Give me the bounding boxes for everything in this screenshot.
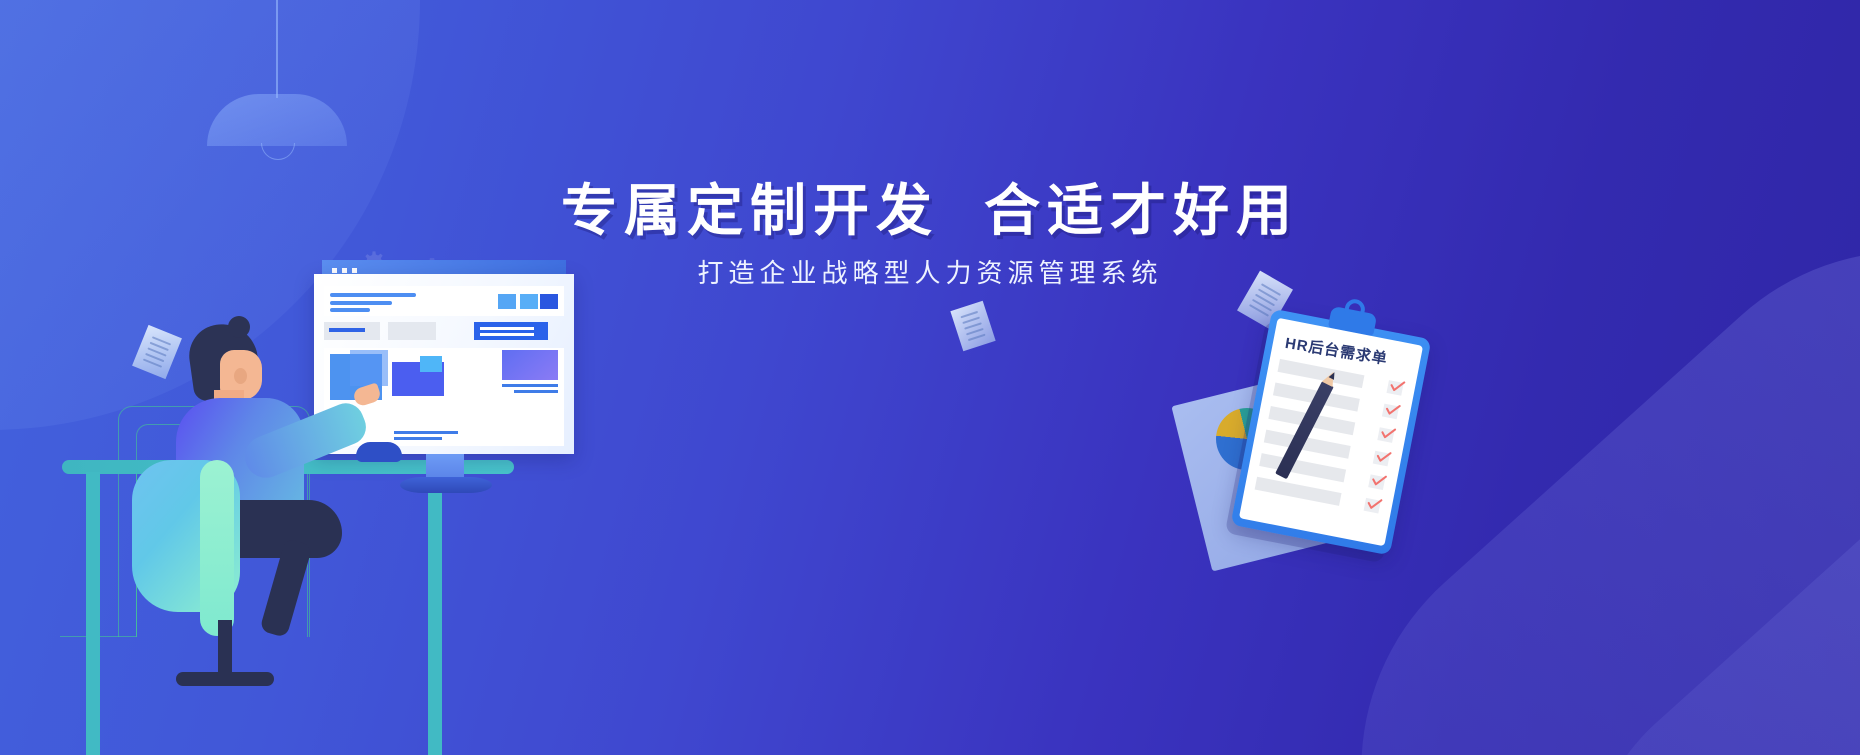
- checkbox-checked-icon: [1386, 380, 1403, 396]
- checkbox-checked-icon: [1373, 451, 1390, 467]
- monitor-stand-base: [400, 477, 492, 493]
- office-chair-stem: [218, 620, 232, 678]
- clipboard-sheet: HR后台需求单: [1239, 318, 1423, 546]
- desk-leg-right: [428, 472, 442, 755]
- checkbox-checked-icon: [1364, 498, 1381, 514]
- screen-list-row: [324, 286, 564, 316]
- page-subtitle: 打造企业战略型人力资源管理系统: [0, 258, 1860, 289]
- hero-copy-block: 专属定制开发 合适才好用 打造企业战略型人力资源管理系统: [0, 178, 1860, 289]
- person-hair-bun: [228, 316, 250, 338]
- lamp-bulb: [261, 143, 295, 160]
- page-title: 专属定制开发 合适才好用: [0, 178, 1860, 244]
- floating-paper-middle-icon: [950, 301, 995, 351]
- lamp-shade: [207, 94, 347, 146]
- checkbox-checked-icon: [1377, 427, 1394, 443]
- hanging-lamp-icon: [207, 0, 347, 165]
- office-chair-foot: [176, 672, 274, 686]
- hr-requirements-clipboard-illustration: HR后台需求单: [1180, 270, 1510, 570]
- lamp-cord: [276, 0, 278, 98]
- office-chair-edge: [200, 460, 234, 636]
- paper-sheet: [950, 301, 995, 351]
- desk-leg-left: [86, 472, 100, 755]
- checkbox-checked-icon: [1368, 474, 1385, 490]
- person-hand: [352, 382, 382, 407]
- developer-at-desk-illustration: [60, 260, 580, 755]
- checkbox-checked-icon: [1382, 404, 1399, 420]
- person-ear: [234, 368, 247, 384]
- hero-banner: 专属定制开发 合适才好用 打造企业战略型人力资源管理系统: [0, 0, 1860, 755]
